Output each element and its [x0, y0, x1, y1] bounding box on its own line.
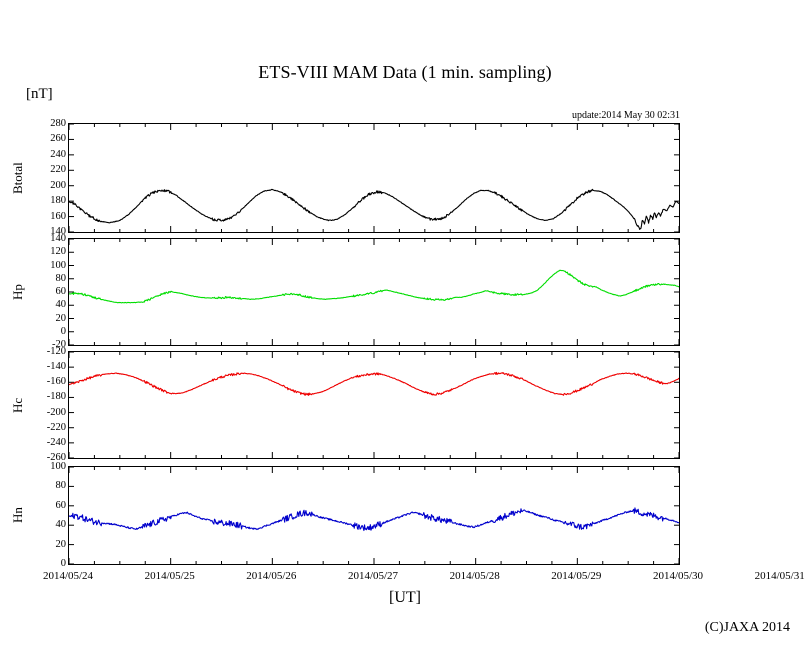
- y-tick-label: 60: [22, 287, 66, 297]
- y-tick-label: 20: [22, 314, 66, 324]
- y-unit-label: [nT]: [26, 86, 53, 103]
- x-tick-label: 2014/05/31: [735, 570, 810, 582]
- y-axis-tick-labels-btotal: 280260240220200180160140: [20, 123, 66, 233]
- y-tick-label: 80: [22, 274, 66, 284]
- x-tick-label: 2014/05/24: [23, 570, 113, 582]
- y-tick-label: 40: [22, 300, 66, 310]
- y-tick-label: -120: [22, 347, 66, 357]
- y-tick-label: -180: [22, 392, 66, 402]
- x-tick-label: 2014/05/29: [531, 570, 621, 582]
- y-tick-label: -220: [22, 423, 66, 433]
- x-tick-label: 2014/05/25: [125, 570, 215, 582]
- copyright-credit: (C)JAXA 2014: [0, 620, 790, 636]
- y-tick-label: 220: [22, 165, 66, 175]
- plot-panel-hc: [68, 351, 680, 459]
- y-tick-label: 200: [22, 181, 66, 191]
- y-tick-label: -140: [22, 362, 66, 372]
- y-tick-label: 20: [22, 540, 66, 550]
- y-tick-label: 0: [22, 559, 66, 569]
- y-tick-label: 0: [22, 327, 66, 337]
- y-tick-label: -200: [22, 408, 66, 418]
- y-axis-tick-labels-hp: 140120100806040200-20: [20, 238, 66, 346]
- chart-figure: ETS-VIII MAM Data (1 min. sampling) [nT]…: [0, 0, 810, 655]
- y-axis-label-hn: Hn: [10, 466, 26, 565]
- y-tick-label: 60: [22, 501, 66, 511]
- y-axis-label-hp: Hp: [10, 238, 26, 346]
- y-tick-label: -160: [22, 377, 66, 387]
- y-tick-label: 100: [22, 261, 66, 271]
- y-axis-tick-labels-hn: 100806040200: [20, 466, 66, 565]
- x-tick-label: 2014/05/27: [328, 570, 418, 582]
- chart-title: ETS-VIII MAM Data (1 min. sampling): [0, 62, 810, 83]
- y-tick-label: 280: [22, 119, 66, 129]
- y-axis-label-hc: Hc: [10, 351, 26, 459]
- y-tick-label: 120: [22, 247, 66, 257]
- y-tick-label: 80: [22, 481, 66, 491]
- y-tick-label: 100: [22, 462, 66, 472]
- y-tick-label: 180: [22, 196, 66, 206]
- x-tick-label: 2014/05/26: [226, 570, 316, 582]
- y-tick-label: -240: [22, 438, 66, 448]
- y-tick-label: 40: [22, 520, 66, 530]
- plot-panel-btotal: [68, 123, 680, 233]
- x-tick-label: 2014/05/28: [430, 570, 520, 582]
- x-tick-label: 2014/05/30: [633, 570, 723, 582]
- y-tick-label: 240: [22, 150, 66, 160]
- update-timestamp: update:2014 May 30 02:31: [480, 110, 680, 121]
- y-tick-label: 260: [22, 134, 66, 144]
- y-tick-label: 140: [22, 234, 66, 244]
- plot-panel-hn: [68, 466, 680, 565]
- plot-panel-hp: [68, 238, 680, 346]
- y-axis-label-btotal: Btotal: [10, 123, 26, 233]
- y-axis-tick-labels-hc: -120-140-160-180-200-220-240-260: [20, 351, 66, 459]
- y-tick-label: 160: [22, 212, 66, 222]
- x-axis-title: [UT]: [0, 589, 810, 607]
